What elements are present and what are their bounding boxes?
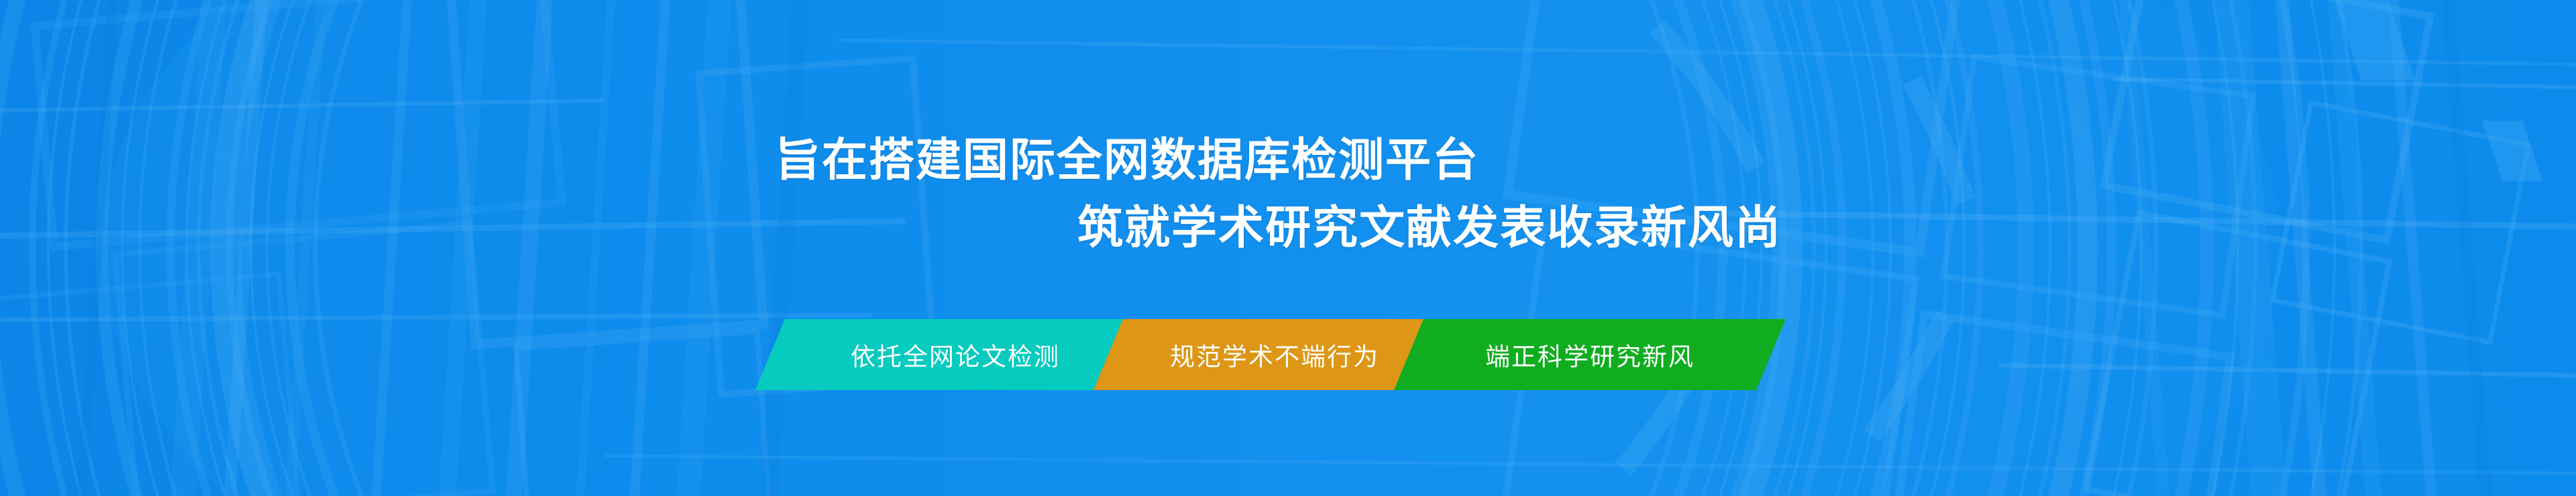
feature-tag-label: 规范学术不端行为 [1169, 336, 1381, 373]
feature-tag-label: 依托全网论文检测 [849, 336, 1061, 373]
background-decoration [0, 0, 2576, 496]
feature-tag-ribbon: 依托全网论文检测 规范学术不端行为 端正科学研究新风 [0, 319, 2576, 391]
promo-banner: 旨在搭建国际全网数据库检测平台 筑就学术研究文献发表收录新风尚 依托全网论文检测… [0, 0, 2576, 496]
feature-tag-plagiarism-detection[interactable]: 依托全网论文检测 [755, 319, 1155, 390]
feature-tag-label: 端正科学研究新风 [1484, 336, 1696, 373]
feature-tag-research-ethics[interactable]: 端正科学研究新风 [1394, 319, 1786, 390]
